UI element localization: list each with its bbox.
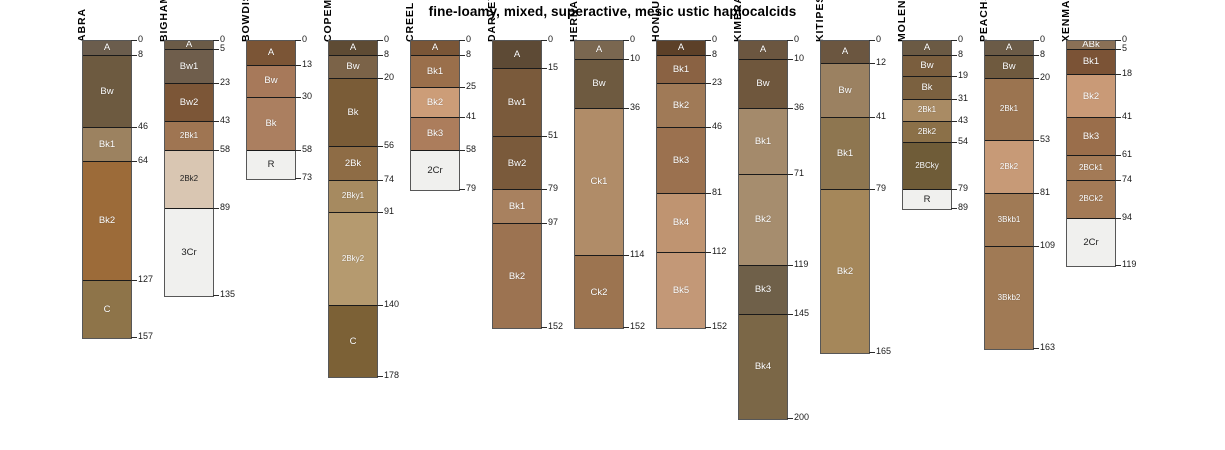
soil-horizon: Bk1 bbox=[83, 128, 131, 162]
depth-tick bbox=[951, 76, 957, 77]
depth-value: 46 bbox=[712, 122, 722, 131]
horizon-label: Bw bbox=[838, 86, 851, 96]
horizon-label: A bbox=[678, 43, 684, 53]
horizon-label: Bk4 bbox=[755, 362, 771, 372]
horizon-label: Bw bbox=[264, 76, 277, 86]
horizon-label: 2Bk1 bbox=[918, 106, 936, 114]
depth-value: 41 bbox=[876, 112, 886, 121]
depth-tick bbox=[705, 252, 711, 253]
soil-horizon: 2Bk2 bbox=[903, 122, 951, 143]
horizon-label: Bk bbox=[921, 83, 932, 93]
horizon-label: Bk1 bbox=[427, 67, 443, 77]
profile-name-label: XENMACK bbox=[1060, 0, 1072, 42]
depth-tick bbox=[459, 40, 465, 41]
horizon-label: Bk3 bbox=[1083, 132, 1099, 142]
horizon-label: 2Cr bbox=[1083, 238, 1098, 248]
depth-tick bbox=[213, 121, 219, 122]
horizon-label: Bw bbox=[100, 87, 113, 97]
depth-tick bbox=[1115, 74, 1121, 75]
soil-horizon: Ck2 bbox=[575, 256, 623, 328]
soil-horizon: Bk bbox=[903, 77, 951, 100]
depth-value: 165 bbox=[876, 347, 891, 356]
horizon-label: Bk5 bbox=[673, 286, 689, 296]
soil-horizon: Bk4 bbox=[657, 194, 705, 253]
depth-tick bbox=[1115, 40, 1121, 41]
horizon-label: Bk2 bbox=[673, 101, 689, 111]
profile-name-label: PEACHSPRINGS bbox=[978, 0, 990, 42]
depth-value: 56 bbox=[384, 141, 394, 150]
depth-value: 73 bbox=[302, 173, 312, 182]
soil-horizon: A bbox=[821, 41, 869, 64]
profile-column: ABwBk2Bk2Bky12Bky2C bbox=[328, 40, 378, 378]
depth-value: 8 bbox=[712, 50, 717, 59]
depth-tick bbox=[705, 127, 711, 128]
depth-value: 0 bbox=[138, 35, 143, 44]
depth-value: 43 bbox=[220, 116, 230, 125]
horizon-label: A bbox=[514, 50, 520, 60]
depth-value: 36 bbox=[794, 103, 804, 112]
depth-tick bbox=[951, 208, 957, 209]
depth-tick bbox=[1115, 117, 1121, 118]
soil-horizon: Bk2 bbox=[739, 175, 787, 266]
soil-horizon: Bk5 bbox=[657, 253, 705, 329]
soil-horizon: Bk3 bbox=[657, 128, 705, 194]
depth-tick bbox=[705, 40, 711, 41]
profile-column: ABk1Bk2Bk3Bk4Bk5 bbox=[656, 40, 706, 329]
depth-value: 0 bbox=[302, 35, 307, 44]
depth-value: 12 bbox=[876, 58, 886, 67]
soil-horizon: R bbox=[247, 151, 295, 179]
soil-horizon: Bk2 bbox=[83, 162, 131, 281]
profile-column: ABk1Bk2Bk32Cr bbox=[410, 40, 460, 191]
soil-horizon: 2Bk2 bbox=[165, 151, 213, 210]
horizon-label: Bk1 bbox=[99, 140, 115, 150]
depth-value: 89 bbox=[220, 203, 230, 212]
horizon-label: Bk3 bbox=[755, 285, 771, 295]
depth-tick bbox=[869, 40, 875, 41]
depth-value: 25 bbox=[466, 82, 476, 91]
depth-tick bbox=[623, 108, 629, 109]
horizon-label: 2Cr bbox=[427, 166, 442, 176]
depth-tick bbox=[377, 40, 383, 41]
horizon-label: Bk4 bbox=[673, 218, 689, 228]
depth-tick bbox=[213, 150, 219, 151]
soil-horizon: Bk2 bbox=[1067, 75, 1115, 118]
profile-column: ABw2Bk12Bk23Bkb13Bkb2 bbox=[984, 40, 1034, 350]
depth-value: 5 bbox=[220, 44, 225, 53]
depth-value: 79 bbox=[958, 184, 968, 193]
horizon-label: 2Bk2 bbox=[180, 175, 198, 183]
depth-value: 0 bbox=[630, 35, 635, 44]
depth-value: 119 bbox=[794, 260, 808, 269]
depth-tick bbox=[541, 223, 547, 224]
depth-value: 41 bbox=[1122, 112, 1132, 121]
soil-horizon: 2Bk1 bbox=[165, 122, 213, 150]
depth-value: 145 bbox=[794, 309, 809, 318]
depth-tick bbox=[705, 327, 711, 328]
soil-horizon: Bk2 bbox=[411, 88, 459, 118]
depth-tick bbox=[295, 65, 301, 66]
depth-value: 152 bbox=[548, 322, 563, 331]
horizon-label: C bbox=[104, 305, 111, 315]
horizon-label: 2Bk1 bbox=[180, 132, 198, 140]
profile-column: ABwBk2Bk12Bk22BCkyR bbox=[902, 40, 952, 210]
soil-horizon: 2BCky bbox=[903, 143, 951, 190]
depth-tick bbox=[541, 136, 547, 137]
profile-name-label: DARVEY bbox=[486, 0, 498, 42]
depth-value: 79 bbox=[876, 184, 886, 193]
soil-horizon: Bw1 bbox=[493, 69, 541, 137]
depth-tick bbox=[869, 117, 875, 118]
horizon-label: A bbox=[842, 47, 848, 57]
depth-tick bbox=[377, 146, 383, 147]
horizon-label: Bk3 bbox=[673, 156, 689, 166]
soil-horizon: 2Bk2 bbox=[985, 141, 1033, 194]
soil-horizon: 2Bky2 bbox=[329, 213, 377, 306]
depth-tick bbox=[213, 40, 219, 41]
horizon-label: A bbox=[924, 43, 930, 53]
soil-horizon: Bw bbox=[329, 56, 377, 79]
horizon-label: Bw1 bbox=[180, 62, 198, 72]
profile-name-label: HONLU bbox=[650, 0, 662, 42]
depth-value: 58 bbox=[220, 145, 230, 154]
soil-horizon: Bk1 bbox=[739, 109, 787, 175]
soil-horizon: Bw2 bbox=[165, 84, 213, 122]
depth-tick bbox=[459, 189, 465, 190]
horizon-label: Bk1 bbox=[1083, 57, 1099, 67]
depth-tick bbox=[541, 327, 547, 328]
depth-value: 0 bbox=[712, 35, 717, 44]
horizon-label: Bk2 bbox=[1083, 92, 1099, 102]
soil-horizon: Bk bbox=[329, 79, 377, 147]
horizon-label: Bw2 bbox=[180, 98, 198, 108]
profile-column: ABw1Bw22Bk12Bk23Cr bbox=[164, 40, 214, 297]
depth-value: 81 bbox=[1040, 188, 1050, 197]
depth-value: 152 bbox=[630, 322, 645, 331]
depth-tick bbox=[541, 68, 547, 69]
soil-horizon: A bbox=[657, 41, 705, 56]
soil-horizon: Bw bbox=[985, 56, 1033, 79]
depth-value: 31 bbox=[958, 94, 968, 103]
horizon-label: 2Bk2 bbox=[918, 128, 936, 136]
depth-tick bbox=[1033, 348, 1039, 349]
depth-value: 20 bbox=[384, 73, 394, 82]
depth-value: 200 bbox=[794, 413, 809, 422]
horizon-label: Bk3 bbox=[427, 129, 443, 139]
depth-value: 79 bbox=[466, 184, 476, 193]
depth-tick bbox=[705, 193, 711, 194]
depth-value: 30 bbox=[302, 92, 312, 101]
depth-tick bbox=[1033, 246, 1039, 247]
depth-tick bbox=[213, 208, 219, 209]
depth-value: 8 bbox=[466, 50, 471, 59]
soil-horizon: 2BCk2 bbox=[1067, 181, 1115, 219]
depth-value: 54 bbox=[958, 137, 968, 146]
soil-horizon: 2BCk1 bbox=[1067, 156, 1115, 181]
depth-value: 23 bbox=[220, 78, 230, 87]
depth-tick bbox=[213, 49, 219, 50]
depth-value: 15 bbox=[548, 63, 558, 72]
depth-value: 109 bbox=[1040, 241, 1055, 250]
horizon-label: Bw bbox=[346, 62, 359, 72]
depth-tick bbox=[459, 55, 465, 56]
depth-value: 74 bbox=[1122, 175, 1132, 184]
depth-value: 20 bbox=[1040, 73, 1050, 82]
soil-horizon: 3Bkb1 bbox=[985, 194, 1033, 247]
depth-value: 0 bbox=[548, 35, 553, 44]
horizon-label: 2BCk2 bbox=[1079, 195, 1103, 203]
horizon-label: 2Bk2 bbox=[1000, 163, 1018, 171]
horizon-label: Bk2 bbox=[509, 272, 525, 282]
depth-tick bbox=[1115, 49, 1121, 50]
depth-tick bbox=[623, 40, 629, 41]
depth-tick bbox=[705, 83, 711, 84]
depth-tick bbox=[295, 150, 301, 151]
soil-horizon: A bbox=[329, 41, 377, 56]
soil-horizon: A bbox=[83, 41, 131, 56]
horizon-label: Bk2 bbox=[99, 216, 115, 226]
depth-value: 89 bbox=[958, 203, 968, 212]
depth-value: 127 bbox=[138, 275, 153, 284]
horizon-label: 2BCky bbox=[915, 162, 939, 170]
depth-tick bbox=[1115, 155, 1121, 156]
profile-column: ABwBk1Bk2 bbox=[820, 40, 870, 354]
depth-value: 79 bbox=[548, 184, 558, 193]
depth-tick bbox=[869, 352, 875, 353]
depth-tick bbox=[459, 150, 465, 151]
horizon-label: Bk1 bbox=[673, 65, 689, 75]
depth-tick bbox=[787, 40, 793, 41]
depth-tick bbox=[131, 55, 137, 56]
depth-tick bbox=[131, 337, 137, 338]
depth-value: 74 bbox=[384, 175, 394, 184]
horizon-label: C bbox=[350, 337, 357, 347]
soil-horizon: Bw bbox=[247, 66, 295, 98]
depth-value: 0 bbox=[794, 35, 799, 44]
profile-name-label: ABRA bbox=[76, 8, 88, 42]
depth-value: 8 bbox=[958, 50, 963, 59]
soil-horizon: Bw bbox=[821, 64, 869, 119]
depth-value: 94 bbox=[1122, 213, 1132, 222]
horizon-label: 2Bk1 bbox=[1000, 105, 1018, 113]
depth-tick bbox=[787, 265, 793, 266]
horizon-label: 2Bky1 bbox=[342, 192, 364, 200]
depth-value: 163 bbox=[1040, 343, 1055, 352]
depth-tick bbox=[377, 180, 383, 181]
depth-value: 58 bbox=[302, 145, 312, 154]
horizon-label: Bw1 bbox=[508, 98, 526, 108]
depth-tick bbox=[131, 127, 137, 128]
soil-horizon: A bbox=[985, 41, 1033, 56]
soil-horizon: Bk2 bbox=[821, 190, 869, 353]
depth-tick bbox=[787, 418, 793, 419]
profile-column: ABwCk1Ck2 bbox=[574, 40, 624, 329]
depth-value: 58 bbox=[466, 145, 476, 154]
depth-tick bbox=[541, 189, 547, 190]
depth-value: 114 bbox=[630, 250, 644, 259]
depth-tick bbox=[131, 40, 137, 41]
soil-horizon: Bw1 bbox=[165, 50, 213, 84]
soil-horizon: A bbox=[411, 41, 459, 56]
horizon-label: Bk1 bbox=[509, 202, 525, 212]
depth-tick bbox=[541, 40, 547, 41]
depth-tick bbox=[1033, 78, 1039, 79]
soil-horizon: 2Cr bbox=[411, 151, 459, 191]
soil-horizon: Bk2 bbox=[657, 84, 705, 127]
soil-horizon: Bk3 bbox=[411, 118, 459, 150]
soil-horizon: Bk1 bbox=[493, 190, 541, 224]
depth-tick bbox=[377, 78, 383, 79]
depth-tick bbox=[951, 189, 957, 190]
depth-value: 41 bbox=[466, 112, 476, 121]
horizon-label: Bw bbox=[592, 79, 605, 89]
soil-horizon: A bbox=[575, 41, 623, 60]
depth-tick bbox=[787, 314, 793, 315]
soil-horizon: Bk2 bbox=[493, 224, 541, 328]
profile-name-label: KIMERA bbox=[732, 0, 744, 42]
horizon-label: Bk1 bbox=[755, 137, 771, 147]
depth-value: 152 bbox=[712, 322, 727, 331]
depth-value: 19 bbox=[958, 71, 968, 80]
depth-value: 8 bbox=[384, 50, 389, 59]
horizon-label: Bw bbox=[1002, 62, 1015, 72]
horizon-label: Ck1 bbox=[591, 177, 608, 187]
horizon-label: R bbox=[268, 160, 275, 170]
depth-value: 10 bbox=[794, 54, 804, 63]
profile-name-label: BIGHAMS bbox=[158, 0, 170, 42]
soil-horizon: Bw bbox=[903, 56, 951, 77]
horizon-label: Bw2 bbox=[508, 159, 526, 169]
horizon-label: 2BCk1 bbox=[1079, 164, 1103, 172]
soil-horizon: Bw bbox=[575, 60, 623, 109]
depth-value: 0 bbox=[876, 35, 881, 44]
depth-tick bbox=[951, 121, 957, 122]
soil-horizon: R bbox=[903, 190, 951, 209]
depth-tick bbox=[1033, 40, 1039, 41]
horizon-label: Bk1 bbox=[837, 149, 853, 159]
depth-value: 43 bbox=[958, 116, 968, 125]
depth-value: 5 bbox=[1122, 44, 1127, 53]
horizon-label: Bw bbox=[756, 79, 769, 89]
depth-tick bbox=[951, 40, 957, 41]
depth-tick bbox=[869, 189, 875, 190]
depth-tick bbox=[951, 99, 957, 100]
depth-tick bbox=[131, 280, 137, 281]
depth-value: 53 bbox=[1040, 135, 1050, 144]
profile-column: ABkBk1Bk2Bk32BCk12BCk22Cr bbox=[1066, 40, 1116, 267]
depth-tick bbox=[787, 59, 793, 60]
horizon-label: 3Cr bbox=[181, 248, 196, 258]
soil-horizon: Bk1 bbox=[657, 56, 705, 84]
soil-horizon: 2Cr bbox=[1067, 219, 1115, 266]
depth-tick bbox=[377, 55, 383, 56]
depth-tick bbox=[1115, 265, 1121, 266]
horizon-label: A bbox=[596, 45, 602, 55]
soil-horizon: A bbox=[739, 41, 787, 60]
depth-value: 23 bbox=[712, 78, 722, 87]
depth-value: 135 bbox=[220, 290, 235, 299]
profile-name-label: KITIPES bbox=[814, 0, 826, 42]
profile-name-label: HERNANDEZ bbox=[568, 0, 580, 42]
depth-value: 46 bbox=[138, 122, 148, 131]
depth-value: 157 bbox=[138, 332, 153, 341]
depth-value: 81 bbox=[712, 188, 722, 197]
depth-tick bbox=[295, 178, 301, 179]
depth-tick bbox=[623, 255, 629, 256]
depth-tick bbox=[787, 174, 793, 175]
depth-value: 0 bbox=[1040, 35, 1045, 44]
soil-horizon: A bbox=[165, 41, 213, 50]
soil-horizon: Bk1 bbox=[411, 56, 459, 88]
horizon-label: R bbox=[924, 195, 931, 205]
depth-tick bbox=[951, 142, 957, 143]
soil-horizon: Bk3 bbox=[1067, 118, 1115, 156]
depth-tick bbox=[131, 161, 137, 162]
soil-horizon: 3Bkb2 bbox=[985, 247, 1033, 349]
depth-tick bbox=[377, 305, 383, 306]
depth-value: 71 bbox=[794, 169, 804, 178]
soil-horizon: 3Cr bbox=[165, 209, 213, 296]
depth-tick bbox=[295, 40, 301, 41]
soil-horizon: Bk1 bbox=[821, 118, 869, 190]
horizon-label: Bk2 bbox=[837, 267, 853, 277]
depth-tick bbox=[869, 63, 875, 64]
soil-horizon: 2Bky1 bbox=[329, 181, 377, 213]
profile-name-label: COPEMAN bbox=[322, 0, 334, 42]
depth-value: 61 bbox=[1122, 150, 1132, 159]
horizon-label: 3Bkb1 bbox=[998, 216, 1021, 224]
profile-name-label: CREEL bbox=[404, 2, 416, 42]
soil-horizon: Bw2 bbox=[493, 137, 541, 190]
depth-tick bbox=[213, 83, 219, 84]
soil-horizon: 2Bk bbox=[329, 147, 377, 181]
horizon-label: Bk2 bbox=[427, 98, 443, 108]
soil-horizon: Ck1 bbox=[575, 109, 623, 256]
depth-tick bbox=[459, 117, 465, 118]
soil-horizon: 2Bk1 bbox=[903, 100, 951, 123]
horizon-label: Bk2 bbox=[755, 215, 771, 225]
depth-value: 140 bbox=[384, 300, 399, 309]
depth-value: 64 bbox=[138, 156, 148, 165]
depth-value: 119 bbox=[1122, 260, 1136, 269]
depth-value: 51 bbox=[548, 131, 558, 140]
horizon-label: A bbox=[1006, 43, 1012, 53]
horizon-label: A bbox=[104, 43, 110, 53]
depth-value: 0 bbox=[958, 35, 963, 44]
depth-tick bbox=[787, 108, 793, 109]
horizon-label: A bbox=[186, 41, 192, 50]
depth-tick bbox=[377, 376, 383, 377]
profile-column: ABwBk1Bk2C bbox=[82, 40, 132, 339]
depth-tick bbox=[951, 55, 957, 56]
soil-profile-chart: ABRAABwBk1Bk2C084664127157BIGHAMSABw1Bw2… bbox=[0, 0, 1225, 450]
soil-horizon: Bk3 bbox=[739, 266, 787, 315]
depth-tick bbox=[1033, 140, 1039, 141]
soil-horizon: Bk bbox=[247, 98, 295, 151]
depth-tick bbox=[295, 97, 301, 98]
horizon-label: Bk bbox=[265, 119, 276, 129]
soil-horizon: Bk4 bbox=[739, 315, 787, 419]
soil-horizon: Bw bbox=[739, 60, 787, 109]
profile-column: ABwBk1Bk2Bk3Bk4 bbox=[738, 40, 788, 420]
soil-horizon: 2Bk1 bbox=[985, 79, 1033, 141]
depth-value: 8 bbox=[138, 50, 143, 59]
horizon-label: A bbox=[268, 48, 274, 58]
depth-value: 0 bbox=[384, 35, 389, 44]
horizon-label: 2Bky2 bbox=[342, 255, 364, 263]
depth-value: 10 bbox=[630, 54, 640, 63]
soil-horizon: C bbox=[329, 306, 377, 378]
